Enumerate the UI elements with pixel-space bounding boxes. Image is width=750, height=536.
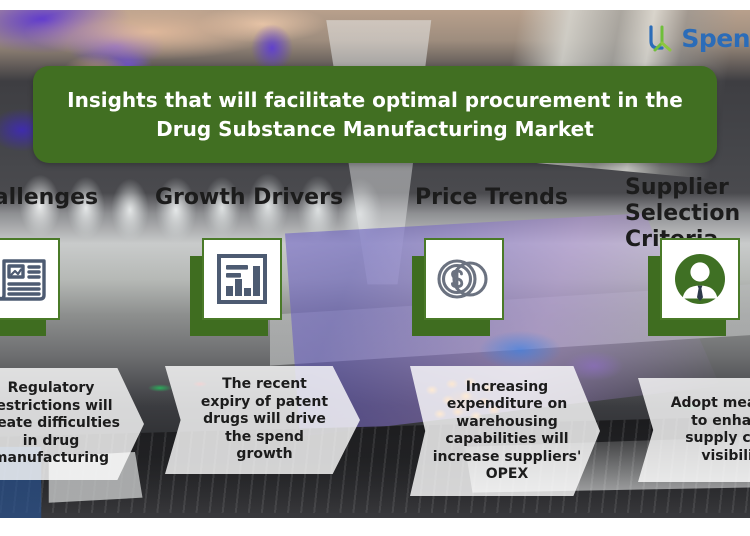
dollar-coins-icon xyxy=(435,254,493,304)
column-heading-price-trends: Price Trends xyxy=(415,185,568,211)
callout-text: Adopt measures to enhance supply chain v… xyxy=(671,395,750,465)
icon-card-face xyxy=(660,238,740,320)
infographic-canvas: Spen Insights that will facilitate optim… xyxy=(0,0,750,536)
icon-card-growth-drivers xyxy=(190,238,282,338)
bar-chart-report-icon xyxy=(215,252,269,306)
spendedge-arrow-logo-icon xyxy=(647,23,677,53)
icon-card-face xyxy=(424,238,504,320)
banner-title: Insights that will facilitate optimal pr… xyxy=(59,86,691,143)
column-heading-challenges: Challenges xyxy=(0,185,98,211)
newspaper-article-icon xyxy=(0,253,48,305)
bottom-white-strip xyxy=(0,518,750,536)
top-white-strip xyxy=(0,0,750,10)
icon-card-face xyxy=(202,238,282,320)
callout-supplier-selection-criteria: Adopt measures to enhance supply chain v… xyxy=(638,378,750,482)
callout-text: Regulatory restrictions will create diff… xyxy=(0,380,120,468)
icon-card-challenges xyxy=(0,238,60,338)
callout-growth-drivers: The recent expiry of patent drugs will d… xyxy=(165,366,360,474)
callout-text: Increasing expenditure on warehousing ca… xyxy=(433,379,582,484)
column-heading-growth-drivers: Growth Drivers xyxy=(155,185,343,211)
icon-card-supplier-selection-criteria xyxy=(648,238,740,338)
title-banner: Insights that will facilitate optimal pr… xyxy=(33,66,717,163)
brand-logo: Spen xyxy=(647,22,750,54)
supplier-person-icon xyxy=(672,251,728,307)
icon-card-price-trends xyxy=(412,238,504,338)
callout-text: The recent expiry of patent drugs will d… xyxy=(201,376,328,464)
callout-price-trends: Increasing expenditure on warehousing ca… xyxy=(410,366,600,496)
callout-challenges: Regulatory restrictions will create diff… xyxy=(0,368,144,480)
icon-card-face xyxy=(0,238,60,320)
brand-logo-text: Spen xyxy=(681,26,750,51)
